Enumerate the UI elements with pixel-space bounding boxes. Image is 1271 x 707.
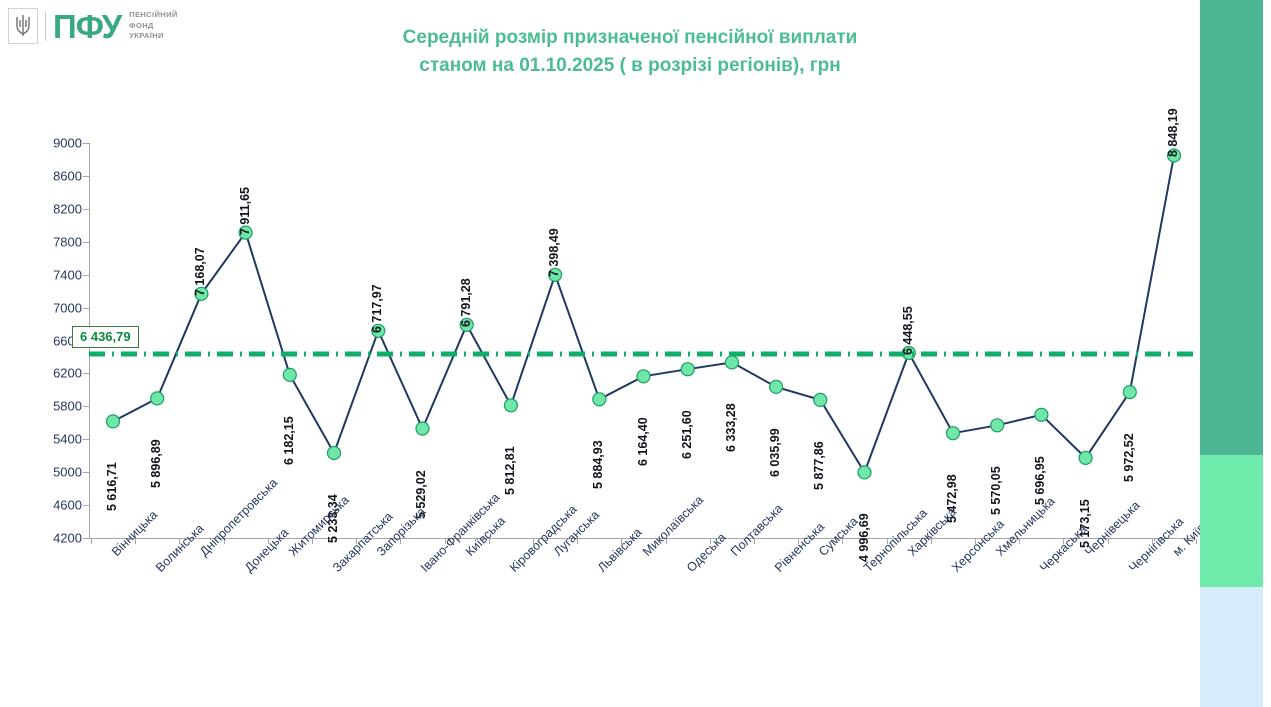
data-point-marker[interactable]	[1035, 408, 1048, 421]
data-point-marker[interactable]	[681, 363, 694, 376]
x-axis-category-label: Миколаївська	[640, 493, 706, 559]
color-bar-segment-blue	[1200, 587, 1263, 707]
data-point-marker[interactable]	[858, 466, 871, 479]
y-axis-tick-mark	[83, 275, 89, 276]
color-bar-segment-light-green	[1200, 455, 1263, 587]
data-point-value-label: 5 570,05	[989, 467, 1003, 516]
x-axis-category-label: Полтавська	[728, 501, 786, 559]
y-axis-tick-label: 7800	[36, 234, 82, 249]
data-point-value-label: 5 812,81	[503, 447, 517, 496]
y-axis-tick-label: 5000	[36, 465, 82, 480]
data-point-marker[interactable]	[107, 415, 120, 428]
y-axis-tick-mark	[83, 538, 89, 539]
y-axis-tick-label: 8200	[36, 201, 82, 216]
x-axis-category-label: Одеська	[684, 530, 729, 575]
y-axis-tick-mark	[83, 406, 89, 407]
y-axis-tick-mark	[83, 242, 89, 243]
y-axis-tick-mark	[83, 472, 89, 473]
x-axis-category-label: Вінницька	[109, 508, 160, 559]
data-point-value-label: 5 896,89	[149, 440, 163, 489]
x-axis-category-label: Сумська	[816, 514, 861, 559]
data-point-marker[interactable]	[1079, 451, 1092, 464]
y-axis-tick-label: 8600	[36, 168, 82, 183]
data-point-value-label: 5 884,93	[591, 441, 605, 490]
average-reference-line	[89, 349, 1193, 359]
y-axis-tick-label: 6200	[36, 366, 82, 381]
data-point-value-label: 7 911,65	[238, 187, 252, 235]
data-point-value-label: 5 616,71	[105, 463, 119, 512]
y-axis-tick-mark	[83, 308, 89, 309]
color-bar-segment-green	[1200, 0, 1263, 455]
y-axis-tick-mark	[83, 143, 89, 144]
data-point-value-label: 6 448,55	[901, 306, 915, 355]
data-point-marker[interactable]	[770, 380, 783, 393]
data-point-marker[interactable]	[328, 447, 341, 460]
x-axis-category-label: Житомирська	[286, 493, 352, 559]
data-point-value-label: 6 035,99	[768, 428, 782, 477]
data-point-value-label: 8 848,19	[1166, 109, 1180, 158]
data-point-marker[interactable]	[593, 393, 606, 406]
data-point-marker[interactable]	[283, 368, 296, 381]
data-point-marker[interactable]	[1123, 386, 1136, 399]
x-axis-category-label: Донецька	[242, 526, 291, 575]
average-value-label: 6 436,79	[72, 326, 139, 348]
data-point-marker[interactable]	[814, 393, 827, 406]
data-point-marker[interactable]	[947, 427, 960, 440]
data-point-value-label: 6 791,28	[459, 278, 473, 327]
data-point-marker[interactable]	[151, 392, 164, 405]
data-point-value-label: 7 398,49	[547, 228, 561, 277]
data-point-value-label: 6 717,97	[370, 284, 384, 333]
data-point-value-label: 7 168,07	[193, 247, 207, 296]
y-axis-tick-label: 4200	[36, 531, 82, 546]
data-point-value-label: 6 164,40	[636, 418, 650, 467]
y-axis-tick-label: 4600	[36, 498, 82, 513]
y-axis-tick-mark	[83, 373, 89, 374]
data-point-marker[interactable]	[991, 419, 1004, 432]
data-point-marker[interactable]	[504, 399, 517, 412]
y-axis-tick-mark	[83, 209, 89, 210]
x-axis-category-label: Львівська	[595, 525, 645, 575]
decorative-color-bar	[1200, 0, 1263, 707]
y-axis-tick-mark	[83, 439, 89, 440]
data-point-marker[interactable]	[637, 370, 650, 383]
data-point-value-label: 6 182,15	[282, 416, 296, 465]
y-axis-tick-mark	[83, 176, 89, 177]
y-axis-tick-label: 5800	[36, 399, 82, 414]
y-axis-tick-label: 9000	[36, 136, 82, 151]
data-point-value-label: 5 972,52	[1122, 433, 1136, 482]
data-point-marker[interactable]	[416, 422, 429, 435]
y-axis-tick-label: 5400	[36, 432, 82, 447]
y-axis-tick-label: 7400	[36, 267, 82, 282]
y-axis-tick-label: 7000	[36, 300, 82, 315]
data-point-value-label: 6 333,28	[724, 404, 738, 453]
x-axis-tick-mark	[91, 539, 92, 544]
data-point-value-label: 5 877,86	[812, 441, 826, 490]
y-axis-tick-mark	[83, 505, 89, 506]
data-point-value-label: 6 251,60	[680, 410, 694, 459]
chart-plot-area: 9000860082007800740070006600620058005400…	[0, 0, 1210, 707]
